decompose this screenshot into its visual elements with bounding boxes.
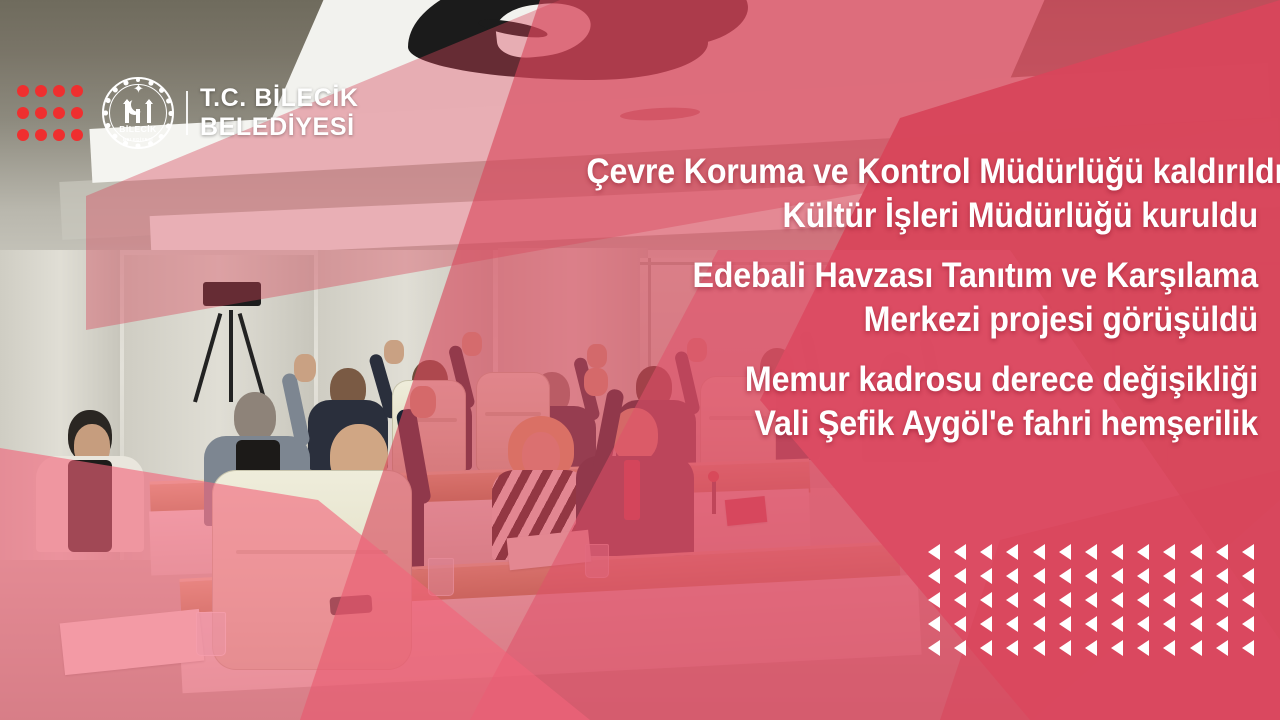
dot-grid-icon (14, 80, 86, 146)
bilecik-municipality-crest-icon: ✦ BİLECİK BELEDİYESİ (100, 75, 176, 151)
headline-item-2: Kültür İşleri Müdürlüğü kuruldu (586, 194, 1258, 238)
brand-title-line2: BELEDİYESİ (200, 113, 359, 142)
headline-item-1: Çevre Koruma ve Kontrol Müdürlüğü kaldır… (586, 150, 1258, 194)
brand-title: T.C. BİLECİK BELEDİYESİ (200, 84, 359, 142)
crest-name: BİLECİK (100, 124, 176, 134)
star-icon: ✦ (133, 84, 143, 94)
headline-list: Çevre Koruma ve Kontrol Müdürlüğü kaldır… (528, 150, 1258, 446)
headline-item-3: Edebali Havzası Tanıtım ve Karşılama Mer… (586, 254, 1258, 342)
headline-item-5: Vali Şefik Aygöl'e fahri hemşerilik (586, 402, 1258, 446)
brand-title-line1: T.C. BİLECİK (200, 84, 359, 113)
headline-item-4: Memur kadrosu derece değişikliği (586, 358, 1258, 402)
crest-subtitle: BELEDİYESİ (100, 137, 176, 142)
news-banner-card: ✦ BİLECİK BELEDİYESİ T.C. BİLECİK BELEDİ… (0, 0, 1280, 720)
logo-divider (186, 91, 188, 135)
left-triangle-pattern-icon (928, 540, 1268, 660)
brand-logo-block[interactable]: ✦ BİLECİK BELEDİYESİ T.C. BİLECİK BELEDİ… (8, 78, 359, 148)
